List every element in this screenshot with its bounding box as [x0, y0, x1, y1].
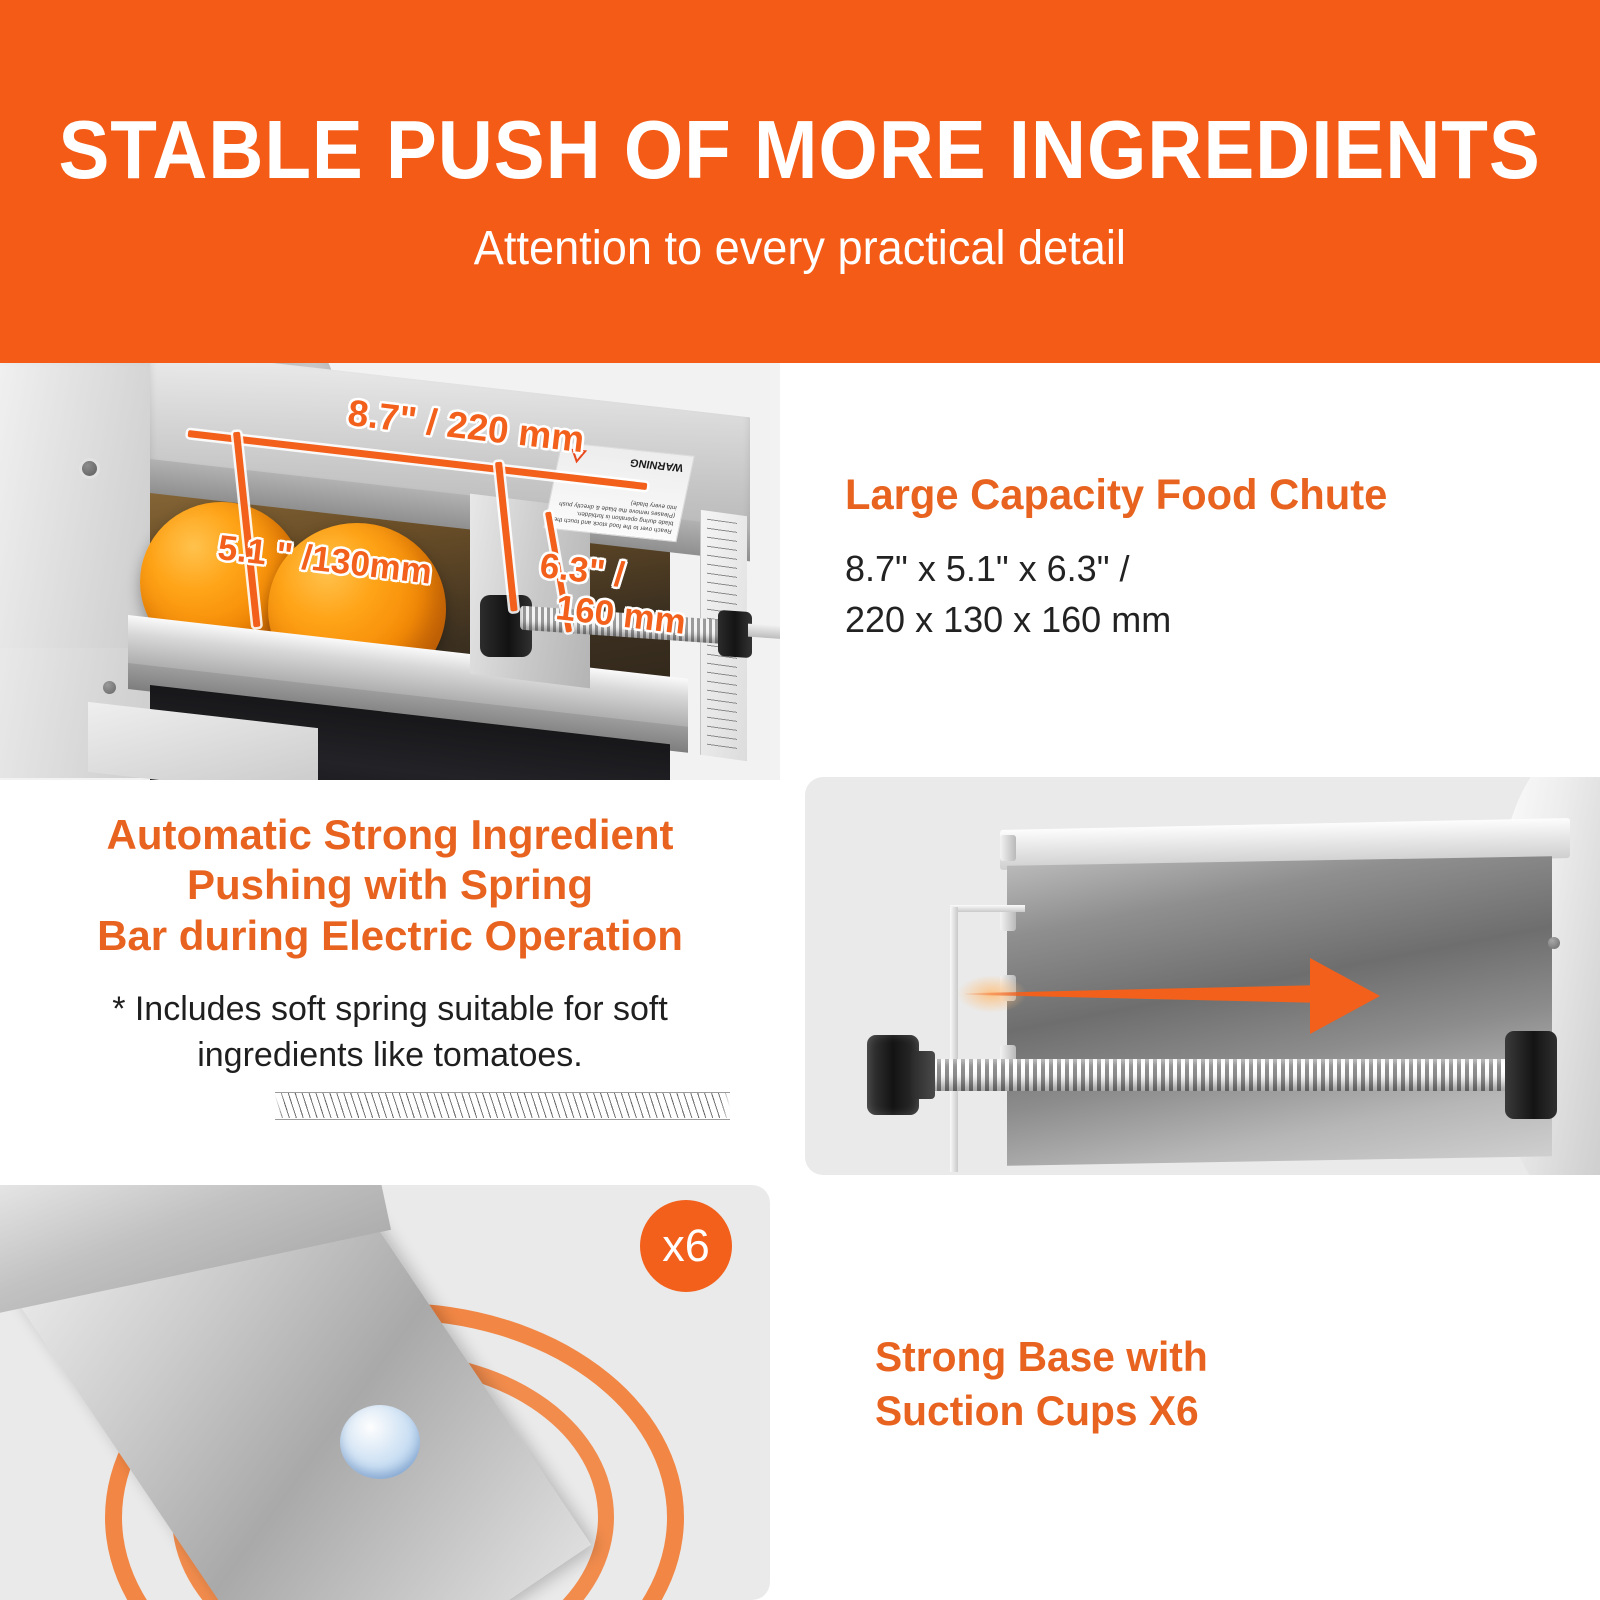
suction-cup-stem	[340, 1405, 420, 1479]
spring-push-text-block: Automatic Strong Ingredient Pushing with…	[40, 810, 740, 1078]
rod-knob-right	[1505, 1031, 1557, 1119]
coil-spring-outline	[275, 1092, 730, 1120]
guide-rail	[950, 907, 958, 1172]
rod-end-knob	[718, 610, 752, 658]
threaded-rod	[917, 1059, 1547, 1091]
warning-body-text: Reach over to the food stock and touch t…	[552, 490, 678, 534]
food-chute-body-line1: 8.7" x 5.1" x 6.3" /	[845, 543, 1565, 594]
food-chute-text-block: Large Capacity Food Chute 8.7" x 5.1" x …	[845, 470, 1565, 645]
page-subtitle: Attention to every practical detail	[474, 225, 1126, 273]
warning-heading-text: WARNING	[629, 456, 684, 473]
spring-push-heading-line1: Automatic Strong Ingredient	[40, 810, 740, 860]
body-screw	[103, 681, 116, 694]
spring-push-body-line1: * Includes soft spring suitable for soft	[40, 987, 740, 1033]
spring-push-body-line2: ingredients like tomatoes.	[40, 1033, 740, 1079]
spring-push-heading-line3: Bar during Electric Operation	[40, 911, 740, 961]
suction-base-heading-line1: Strong Base with	[875, 1330, 1476, 1384]
rod-shaft	[748, 624, 780, 640]
suction-count-badge: x6	[640, 1200, 732, 1292]
push-direction-arrow-icon	[965, 955, 1445, 1033]
plate-hinge	[1000, 835, 1016, 861]
arrow-head	[1310, 958, 1380, 1034]
food-chute-heading: Large Capacity Food Chute	[845, 470, 1543, 521]
product-infographic: STABLE PUSH OF MORE INGREDIENTS Attentio…	[0, 0, 1600, 1600]
guide-rail-top	[950, 905, 1025, 912]
header-banner: STABLE PUSH OF MORE INGREDIENTS Attentio…	[0, 0, 1600, 363]
suction-base-heading: Strong Base with Suction Cups X6	[875, 1330, 1476, 1438]
body-screw	[82, 461, 97, 476]
spring-push-heading-line2: Pushing with Spring	[40, 860, 740, 910]
spring-pusher-photo	[805, 777, 1600, 1175]
spring-push-body: * Includes soft spring suitable for soft…	[40, 987, 740, 1078]
food-chute-body: 8.7" x 5.1" x 6.3" / 220 x 130 x 160 mm	[845, 543, 1565, 645]
suction-base-text-block: Strong Base with Suction Cups X6	[875, 1330, 1495, 1438]
spring-push-heading: Automatic Strong Ingredient Pushing with…	[40, 810, 740, 961]
body-screw	[1548, 937, 1560, 949]
page-title: STABLE PUSH OF MORE INGREDIENTS	[59, 108, 1541, 191]
food-chute-body-line2: 220 x 130 x 160 mm	[845, 594, 1565, 645]
suction-base-heading-line2: Suction Cups X6	[875, 1384, 1476, 1438]
rod-knob-left	[867, 1035, 919, 1115]
